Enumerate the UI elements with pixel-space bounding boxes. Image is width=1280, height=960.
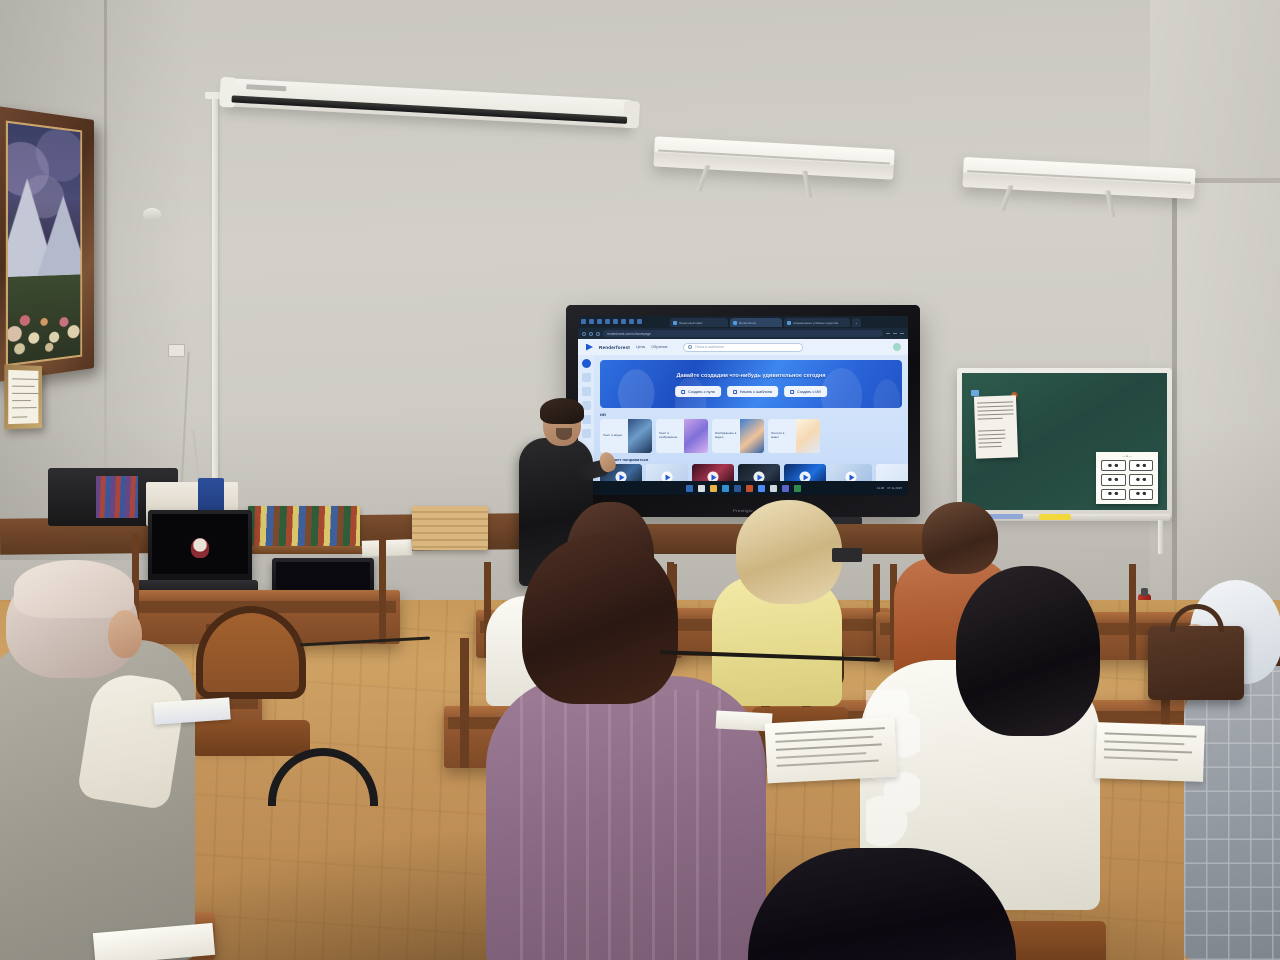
feature-card-image-to-video[interactable]: Изображение в видео <box>712 419 764 453</box>
painting-peak-right <box>35 193 80 281</box>
attendee-check-blazer-pattern <box>1184 666 1280 960</box>
section-title-ai: ИИ <box>600 412 606 417</box>
display-panel[interactable]: Проектный офис Renderforest современные … <box>578 316 908 495</box>
button-label: Начать с шаблона <box>740 390 772 394</box>
chair-left-back[interactable] <box>196 606 306 756</box>
new-tab-button[interactable]: + <box>852 318 861 327</box>
painting-mat <box>6 121 82 367</box>
screen-brand-label <box>246 84 286 91</box>
minimize-icon[interactable] <box>886 333 890 334</box>
worksheet-cell <box>1129 474 1154 485</box>
taskbar-start-icon[interactable] <box>686 485 693 492</box>
worksheet-cell <box>1101 489 1126 500</box>
attendee-rust-jacket-hair <box>922 502 998 574</box>
handout-sheet-2[interactable] <box>1095 722 1205 782</box>
browser-address-bar[interactable]: renderforest.com/ru/homepage <box>578 328 908 339</box>
create-from-scratch-button[interactable]: Создать с нуля <box>675 386 721 397</box>
sparkle-icon <box>790 390 794 394</box>
feature-card-text-to-video[interactable]: Текст в видео <box>600 419 652 453</box>
avatar[interactable] <box>893 343 901 351</box>
attendee-headscarf-hand <box>108 610 142 658</box>
attendee-purple-sweater-hair <box>522 534 678 704</box>
display-brand-label: Prestigio <box>733 508 753 513</box>
taskbar-explorer-icon[interactable] <box>710 485 717 492</box>
search-icon <box>688 345 692 349</box>
template-icon <box>733 390 737 394</box>
worksheet-cell <box>1129 460 1154 471</box>
chalkboard-frame: — ● — <box>957 368 1172 518</box>
attendee-yellow-cardigan-hair <box>736 500 842 604</box>
feature-card-text-to-image[interactable]: Текст в изображение <box>656 419 708 453</box>
worksheet-cell <box>1129 489 1154 500</box>
taskbar-excel-icon[interactable] <box>794 485 801 492</box>
attendee-purple-sweater-knit-texture <box>520 690 730 960</box>
hero-actions[interactable]: Создать с нуля Начать с шаблона Создать … <box>675 386 827 397</box>
hero-illustration <box>600 360 902 408</box>
wall-sensor <box>143 208 161 221</box>
presenter-beard <box>556 428 572 440</box>
worksheet-heading: — ● — <box>1096 454 1158 458</box>
hero-headline: Давайте создадим что-нибудь удивительное… <box>676 373 825 379</box>
nav-item-learn[interactable]: Обучение <box>651 345 667 349</box>
card-label: Изображение в видео <box>712 432 740 440</box>
close-icon[interactable] <box>900 333 904 334</box>
card-thumbnail <box>628 419 652 453</box>
taskbar-powerpoint-icon[interactable] <box>746 485 753 492</box>
presenter-hair <box>540 398 584 424</box>
screen-end-cap-right <box>623 101 640 129</box>
worksheet-cell <box>1101 474 1126 485</box>
taskbar-chrome-icon[interactable] <box>758 485 765 492</box>
handout-sheet-1[interactable] <box>765 717 898 784</box>
interactive-display[interactable]: Проектный офис Renderforest современные … <box>566 305 920 517</box>
feature-card-logo-to-mockup[interactable]: Логотип в макет <box>768 419 820 453</box>
painting-flowers <box>8 292 80 359</box>
search-placeholder: Поиск в шаблонах <box>695 345 724 349</box>
folders-on-shelf <box>96 476 138 518</box>
card-label: Текст в изображение <box>656 432 684 440</box>
sidebar-item-home[interactable] <box>582 373 591 382</box>
card-label: Текст в видео <box>600 434 628 438</box>
renderforest-page[interactable]: Renderforest Цены Обучение Поиск в шабло… <box>578 339 908 481</box>
browser-quick-icons[interactable] <box>581 319 642 324</box>
tab-favicon <box>673 321 677 325</box>
wall-outlet[interactable] <box>168 344 185 357</box>
browser-tab-3[interactable]: современные учебные средства <box>784 318 850 327</box>
stacked-trays <box>412 506 488 550</box>
hero-banner: Давайте создадим что-нибудь удивительное… <box>600 360 902 408</box>
papers-on-desk <box>362 539 413 557</box>
nav-item-pricing[interactable]: Цены <box>636 345 645 349</box>
laptop-screen-logo <box>191 538 209 558</box>
brown-leather-handbag[interactable] <box>1148 626 1244 700</box>
card-label: Логотип в макет <box>768 432 796 440</box>
site-header[interactable]: Renderforest Цены Обучение Поиск в шабло… <box>578 339 908 355</box>
sidebar-item-files[interactable] <box>582 429 591 438</box>
windows-taskbar[interactable]: 14:28 07.11.2025 <box>578 481 908 495</box>
start-from-template-button[interactable]: Начать с шаблона <box>727 386 778 397</box>
tab-title: Проектный офис <box>679 321 703 325</box>
attendee-headscarf-wrap <box>14 560 134 618</box>
taskbar-word-icon[interactable] <box>734 485 741 492</box>
taskbar-clock: 14:28 <box>877 486 885 490</box>
attendee-lace-blouse-hair <box>956 566 1100 736</box>
tab-title: современные учебные средства <box>793 321 838 325</box>
classroom-photo: Проектный офис Renderforest современные … <box>0 0 1280 960</box>
bookshelf-ledge <box>240 546 370 554</box>
browser-tab-1[interactable]: Проектный офис <box>670 318 728 327</box>
taskbar-edge-icon[interactable] <box>722 485 729 492</box>
button-label: Создать с нуля <box>688 390 715 394</box>
worksheet-cell <box>1101 460 1126 471</box>
button-label: Создать с ИИ <box>797 390 821 394</box>
reload-icon[interactable] <box>596 332 600 336</box>
browser-tab-2[interactable]: Renderforest <box>730 318 782 327</box>
tab-favicon <box>733 321 737 325</box>
certificate-sheet <box>8 370 38 424</box>
search-box[interactable]: Поиск в шаблонах <box>683 343 803 352</box>
taskbar-search-icon[interactable] <box>698 485 705 492</box>
bookshelf-with-textbooks <box>248 506 360 548</box>
framed-painting <box>0 106 94 383</box>
schedule-sheet[interactable] <box>974 395 1018 458</box>
taskbar-teams-icon[interactable] <box>782 485 789 492</box>
open-laptop[interactable] <box>148 510 252 582</box>
taskbar-tray[interactable]: 14:28 07.11.2025 <box>877 486 902 490</box>
sidebar-item-create[interactable] <box>582 359 591 368</box>
card-thumbnail <box>684 419 708 453</box>
create-with-ai-button[interactable]: Создать с ИИ <box>784 386 827 397</box>
ai-feature-cards[interactable]: Текст в видео Текст в изображение Изобра… <box>600 419 820 453</box>
forward-icon[interactable] <box>589 332 593 336</box>
pencil-icon <box>681 390 685 394</box>
url-field[interactable]: renderforest.com/ru/homepage <box>603 330 883 337</box>
taskbar-media-icon[interactable] <box>770 485 777 492</box>
framed-certificate <box>4 365 42 430</box>
new-tab-label: + <box>856 321 858 325</box>
site-logo-text: Renderforest <box>599 345 630 350</box>
tab-title: Renderforest <box>739 321 756 325</box>
card-thumbnail <box>740 419 764 453</box>
card-thumbnail <box>796 419 820 453</box>
screen-end-cap-left <box>219 77 237 108</box>
maximize-icon[interactable] <box>893 333 897 334</box>
back-icon[interactable] <box>582 332 586 336</box>
painting-canvas <box>8 123 80 364</box>
taskbar-date: 07.11.2025 <box>887 486 902 490</box>
sidebar-item-templates[interactable] <box>582 387 591 396</box>
second-laptop-screen[interactable] <box>276 562 370 591</box>
renderforest-logo-icon[interactable] <box>586 344 593 351</box>
power-outlet-block[interactable] <box>832 548 862 562</box>
blue-magnet[interactable] <box>971 390 979 396</box>
emoji-faces-worksheet[interactable]: — ● — <box>1096 452 1158 504</box>
tab-favicon <box>787 321 791 325</box>
browser-tabstrip[interactable]: Проектный офис Renderforest современные … <box>578 316 908 328</box>
